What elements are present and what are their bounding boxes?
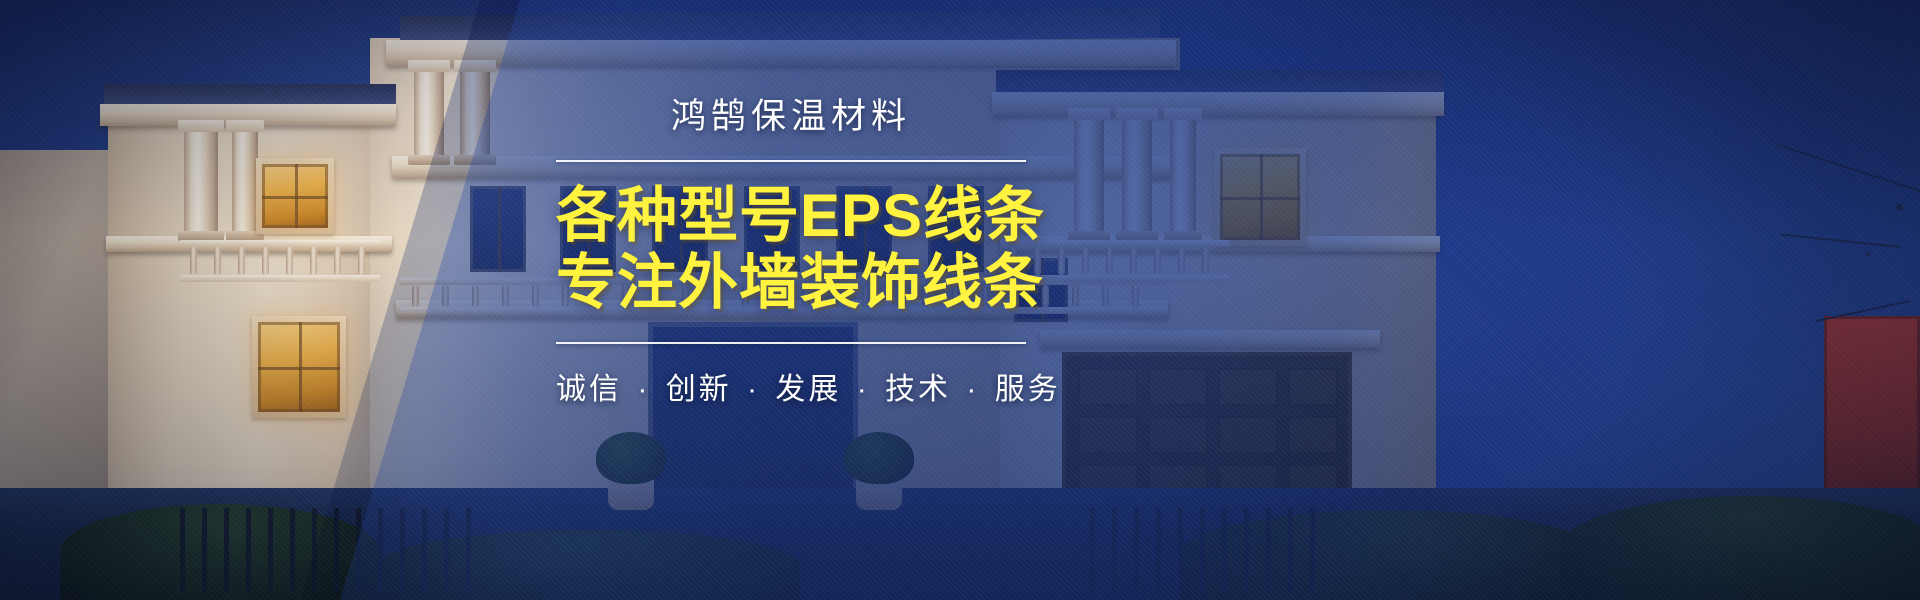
tagline-item-2: 创新: [666, 373, 732, 406]
divider-bottom: [556, 342, 1026, 344]
tagline-separator: ·: [962, 373, 983, 406]
tagline: 诚信 · 创新 · 发展 · 技术 · 服务: [556, 364, 1026, 408]
tagline-separator: ·: [633, 373, 654, 406]
headline-group: 各种型号EPS线条 专注外墙装饰线条: [556, 182, 1026, 316]
headline-line-1: 各种型号EPS线条: [556, 182, 1026, 249]
tagline-separator: ·: [853, 373, 874, 406]
tagline-item-4: 技术: [885, 373, 951, 406]
divider-top: [556, 160, 1026, 162]
promo-banner: 鸿鹄保温材料 各种型号EPS线条 专注外墙装饰线条 诚信 · 创新 · 发展 ·…: [0, 0, 1920, 600]
brand-name: 鸿鹄保温材料: [556, 96, 1026, 138]
headline-line-2: 专注外墙装饰线条: [556, 249, 1026, 316]
tagline-item-1: 诚信: [556, 373, 622, 406]
tagline-item-5: 服务: [995, 373, 1061, 406]
banner-copy-block: 鸿鹄保温材料 各种型号EPS线条 专注外墙装饰线条 诚信 · 创新 · 发展 ·…: [556, 96, 1026, 408]
tagline-separator: ·: [743, 373, 764, 406]
tagline-item-3: 发展: [775, 373, 841, 406]
